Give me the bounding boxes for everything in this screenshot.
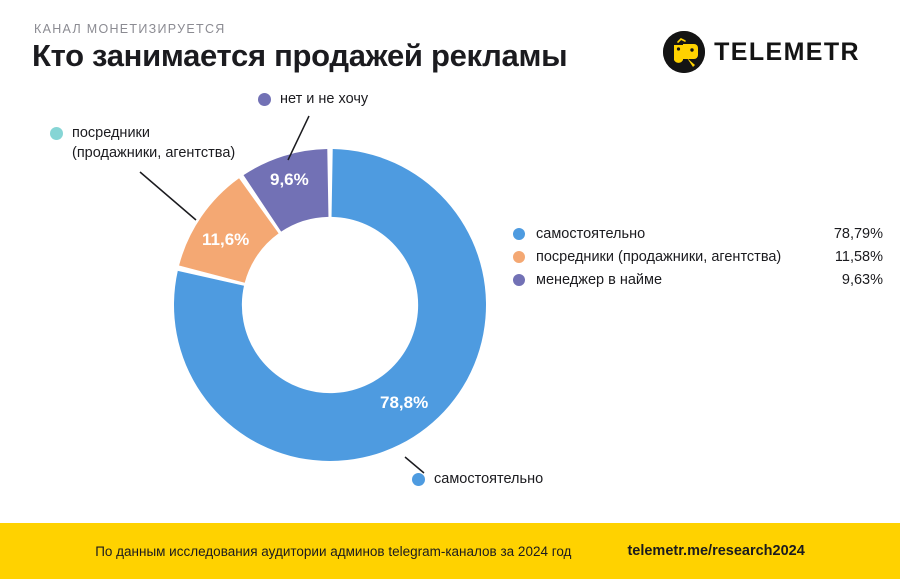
- legend-dot-icon: [258, 93, 271, 106]
- callout-label: нет и не хочу: [280, 90, 368, 110]
- callout-net-i-ne-hochu: нет и не хочу: [258, 90, 368, 110]
- callout-label-line1: посредники: [72, 125, 150, 141]
- legend-value: 9,63%: [842, 272, 883, 288]
- callout-posredniki: посредники (продажники, агентства): [50, 124, 235, 163]
- legend-row: менеджер в найме 9,63%: [513, 268, 883, 291]
- legend-value: 78,79%: [834, 226, 883, 242]
- legend-row: посредники (продажники, агентства) 11,58…: [513, 245, 883, 268]
- callout-samostoyatelno: самостоятельно: [412, 470, 543, 490]
- legend-dot-icon: [412, 473, 425, 486]
- callout-label-block: посредники (продажники, агентства): [72, 124, 235, 163]
- callout-label: самостоятельно: [434, 470, 543, 490]
- legend-dot-icon: [513, 228, 525, 240]
- legend-label: самостоятельно: [536, 226, 645, 242]
- legend-dot-icon: [513, 274, 525, 286]
- legend-label: посредники (продажники, агентства): [536, 249, 781, 265]
- legend-value: 11,58%: [835, 249, 883, 265]
- legend-label: менеджер в найме: [536, 272, 662, 288]
- legend-row: самостоятельно 78,79%: [513, 222, 883, 245]
- infographic-page: КАНАЛ МОНЕТИЗИРУЕТСЯ Кто занимается прод…: [0, 0, 900, 579]
- legend-dot-icon: [50, 127, 63, 140]
- callout-label-line2: (продажники, агентства): [72, 145, 235, 161]
- footer-note: По данным исследования аудитории админов…: [95, 544, 571, 559]
- legend-dot-icon: [513, 251, 525, 263]
- footer-link[interactable]: telemetr.me/research2024: [627, 543, 804, 559]
- chart-legend: самостоятельно 78,79% посредники (продаж…: [513, 222, 883, 291]
- footer-bar: По данным исследования аудитории админов…: [0, 523, 900, 579]
